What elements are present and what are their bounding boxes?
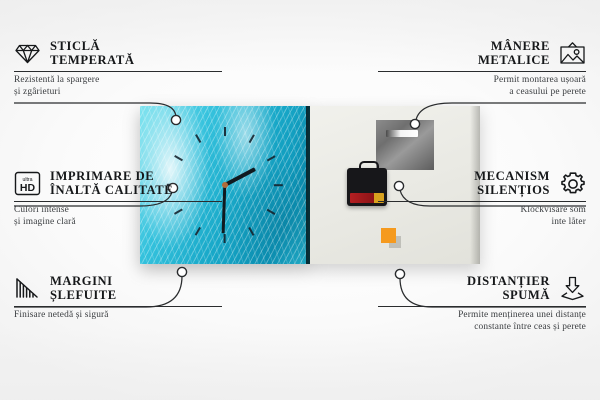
callout-subtitle: Rezistentă la spargere [14, 75, 222, 86]
svg-text:HD: HD [20, 182, 36, 194]
callout-title: MARGINI ȘLEFUITE [50, 275, 117, 302]
callout-subtitle: Permite menținerea unei distanțe [378, 310, 586, 321]
callout-title: MÂNERE METALICE [478, 40, 550, 67]
callout-header: MÂNERE METALICE [378, 40, 586, 67]
callout-subtitle: Culori intense [14, 205, 222, 216]
polished-edges-icon [14, 275, 41, 302]
callout-header: STICLĂ TEMPERATĂ [14, 40, 222, 67]
callout-subtitle: Finisare netedă și sigură [14, 310, 222, 321]
feature-callout-mechanism: MECANISM SILENȚIOS Klockvisare som inte … [378, 170, 586, 228]
feature-callout-handles: MÂNERE METALICE Permit montarea ușoară a… [378, 40, 586, 98]
callout-subtitle: și imagine clară [14, 217, 222, 228]
callout-subtitle: a ceasului pe perete [378, 87, 586, 98]
callout-divider [14, 71, 222, 72]
callout-divider [14, 306, 222, 307]
leader-line-handles [416, 103, 586, 120]
foam-spacer-arrow-icon [559, 275, 586, 302]
callout-title: STICLĂ TEMPERATĂ [50, 40, 134, 67]
callout-header: MARGINI ȘLEFUITE [14, 275, 222, 302]
callout-subtitle: Klockvisare som [378, 205, 586, 216]
feature-callout-edges: MARGINI ȘLEFUITE Finisare netedă și sigu… [14, 275, 222, 322]
picture-hanger-icon [559, 40, 586, 67]
callout-divider [378, 201, 586, 202]
feature-callout-print: ultra HD IMPRIMARE DE ÎNALTĂ CALITATE Cu… [14, 170, 222, 228]
callout-header: DISTANȚIER SPUMĂ [378, 275, 586, 302]
callout-title: IMPRIMARE DE ÎNALTĂ CALITATE [50, 170, 173, 197]
leader-dot-glass [171, 115, 180, 124]
diamond-icon [14, 40, 41, 67]
callout-title: DISTANȚIER SPUMĂ [467, 275, 550, 302]
callout-divider [378, 306, 586, 307]
infographic-canvas: STICLĂ TEMPERATĂ Rezistentă la spargere … [0, 0, 600, 400]
feature-callout-spacer: DISTANȚIER SPUMĂ Permite menținerea unei… [378, 275, 586, 333]
ultra-hd-icon: ultra HD [14, 170, 41, 197]
callout-subtitle: constante între ceas și perete [378, 322, 586, 333]
leader-line-glass [14, 103, 176, 118]
callout-subtitle: inte låter [378, 217, 586, 228]
callout-subtitle: Permit montarea ușoară [378, 75, 586, 86]
callout-subtitle: și zgârieturi [14, 87, 222, 98]
gear-icon [559, 170, 586, 197]
leader-dot-handles [410, 119, 419, 128]
callout-header: MECANISM SILENȚIOS [378, 170, 586, 197]
callout-divider [378, 71, 586, 72]
callout-header: ultra HD IMPRIMARE DE ÎNALTĂ CALITATE [14, 170, 222, 197]
callout-title: MECANISM SILENȚIOS [474, 170, 550, 197]
callout-divider [14, 201, 222, 202]
feature-callout-glass: STICLĂ TEMPERATĂ Rezistentă la spargere … [14, 40, 222, 98]
